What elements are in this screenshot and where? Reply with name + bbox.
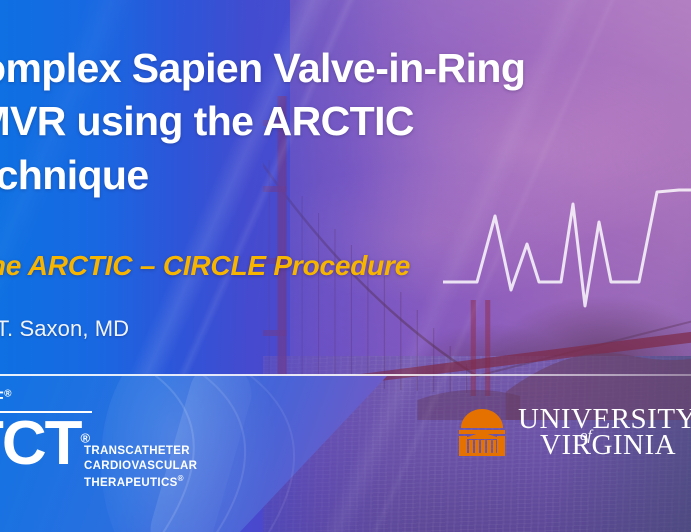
presenter-name: John T. Saxon, MD: [0, 316, 542, 342]
tct-name-line-3: THERAPEUTICS: [84, 477, 178, 489]
tct-name-line-2: CARDIOVASCULAR: [84, 459, 197, 474]
uva-wordmark: UNIVERSITY of VIRGINIA: [518, 406, 691, 458]
uva-connector-of: of: [580, 430, 592, 444]
university-of-virginia-logo: UNIVERSITY of VIRGINIA: [456, 406, 691, 458]
rotunda-icon: [456, 406, 508, 458]
crf-registered-mark: ®: [4, 388, 12, 399]
tct-full-name: TRANSCATHETER CARDIOVASCULAR THERAPEUTIC…: [84, 444, 197, 491]
tct-logo: CRF® TCT® TRANSCATHETER CARDIOVASCULAR T…: [0, 388, 92, 472]
slide-subtitle: The ARCTIC – CIRCLE Procedure: [0, 250, 672, 282]
footer-bar: CRF® TCT® TRANSCATHETER CARDIOVASCULAR T…: [0, 376, 691, 532]
tct-acronym: TCT®: [0, 415, 92, 472]
tct-acronym-text: TCT: [0, 409, 81, 478]
crf-logo-text: CRF®: [0, 388, 92, 408]
page-title: Complex Sapien Valve-in-Ring TMVR using …: [0, 42, 691, 202]
tct-name-registered-mark: ®: [178, 474, 184, 483]
tct-name-line-3-wrap: THERAPEUTICS®: [84, 474, 197, 491]
tct-name-line-1: TRANSCATHETER: [84, 444, 197, 459]
uva-line-virginia: VIRGINIA: [518, 432, 691, 458]
presentation-title-slide: Complex Sapien Valve-in-Ring TMVR using …: [0, 0, 691, 532]
